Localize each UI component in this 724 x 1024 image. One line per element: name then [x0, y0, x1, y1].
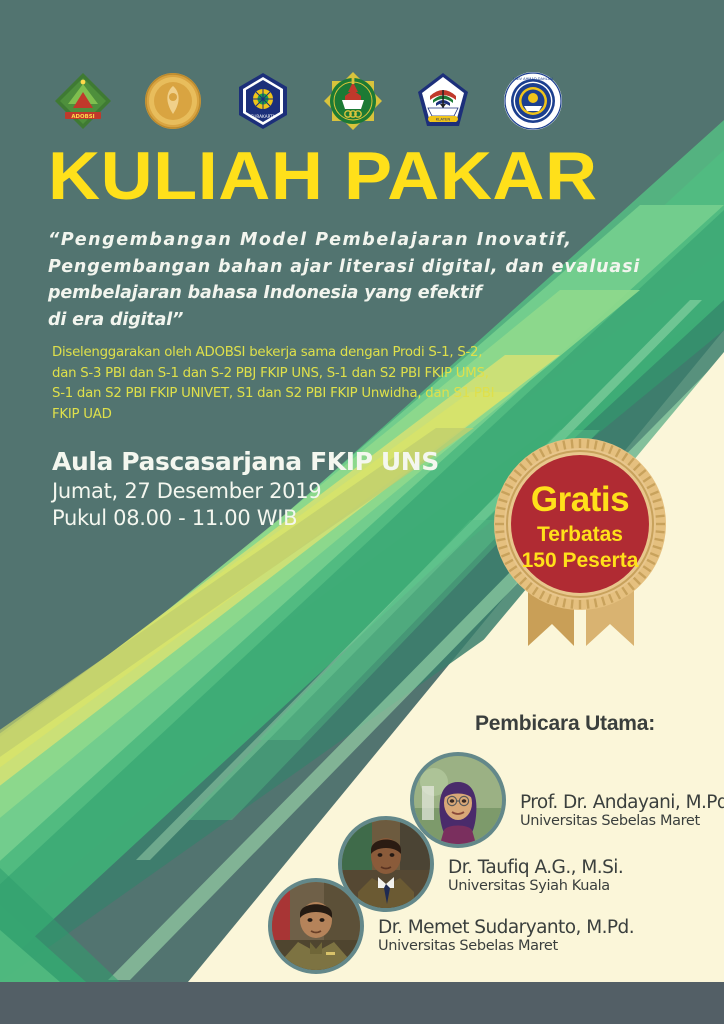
organizer-line-4: FKIP UAD [52, 405, 522, 426]
uad-logo: UNIV AHMAD DAHLAN [502, 70, 564, 132]
speaker-affiliation: Universitas Sebelas Maret [378, 938, 634, 955]
event-details: Aula Pascasarjana FKIP UNS Jumat, 27 Des… [52, 447, 472, 533]
speaker-info: Dr. Memet Sudaryanto, M.Pd. Universitas … [378, 918, 634, 956]
event-venue: Aula Pascasarjana FKIP UNS [52, 447, 472, 478]
badge-rosette-icon [494, 438, 690, 654]
ums-logo: SURAKARTA [232, 70, 294, 132]
portrait-man-uniform-icon [272, 882, 360, 970]
unwidha-logo: KLATEN [412, 70, 474, 132]
subtitle-line-3: pembelajaran bahasa Indonesia yang efekt… [48, 280, 638, 307]
speaker-name: Dr. Memet Sudaryanto, M.Pd. [378, 918, 634, 938]
poster-canvas: ADOBSI [0, 0, 724, 1024]
gratis-badge: Gratis Terbatas 150 Peserta [494, 438, 690, 654]
organizer-text: Diselenggarakan oleh ADOBSI bekerja sama… [52, 343, 522, 425]
svg-text:SURAKARTA: SURAKARTA [251, 114, 276, 119]
subtitle-line-1: “Pengembangan Model Pembelajaran Inovati… [48, 227, 638, 254]
svg-text:UNIV AHMAD DAHLAN: UNIV AHMAD DAHLAN [513, 77, 553, 81]
univet-logo [322, 70, 384, 132]
subtitle-line-4: di era digital” [48, 307, 638, 334]
organizer-line-2: dan S-3 PBI dan S-1 dan S-2 PBJ FKIP UNS… [52, 364, 522, 385]
svg-text:KLATEN: KLATEN [436, 117, 451, 122]
organizer-line-1: Diselenggarakan oleh ADOBSI bekerja sama… [52, 343, 522, 364]
partner-logo-row: ADOBSI [52, 70, 552, 132]
speaker-name: Prof. Dr. Andayani, M.Pd. [520, 793, 724, 813]
poster-subtitle: “Pengembangan Model Pembelajaran Inovati… [48, 227, 638, 333]
organizer-line-3: S-1 dan S2 PBI FKIP UNIVET, S1 dan S2 PB… [52, 384, 522, 405]
speakers-heading: Pembicara Utama: [475, 712, 655, 736]
svg-text:ADOBSI: ADOBSI [71, 114, 94, 120]
poster-title: KULIAH PAKAR [48, 142, 724, 210]
speaker-name: Dr. Taufiq A.G., M.Si. [448, 858, 623, 878]
speaker-avatar [268, 878, 364, 974]
event-date: Jumat, 27 Desember 2019 [52, 478, 472, 506]
subtitle-line-2: Pengembangan bahan ajar literasi digital… [48, 254, 638, 281]
uns-logo [142, 70, 204, 132]
adobsi-logo: ADOBSI [52, 70, 114, 132]
event-time: Pukul 08.00 - 11.00 WIB [52, 505, 472, 533]
speaker-item: Dr. Memet Sudaryanto, M.Pd. Universitas … [268, 878, 634, 974]
